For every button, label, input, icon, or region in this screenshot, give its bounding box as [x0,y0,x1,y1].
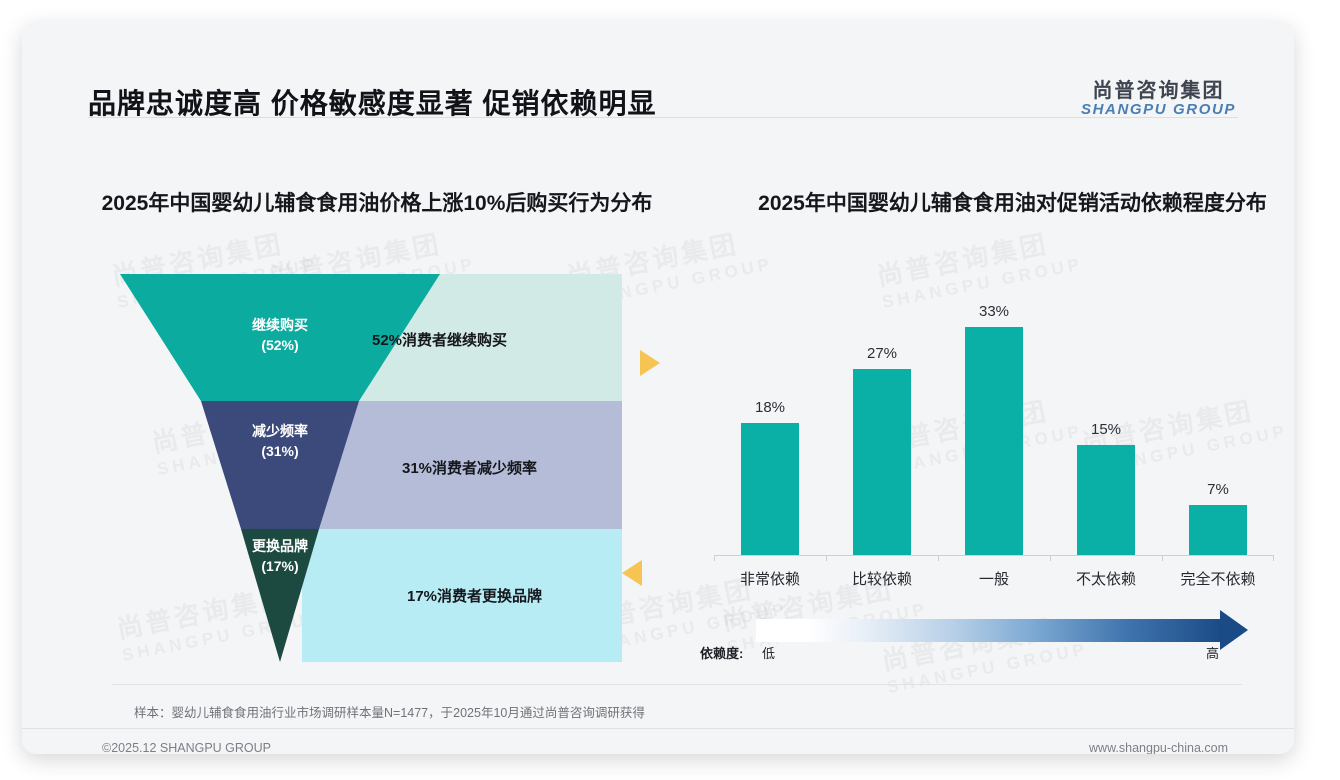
left-chart-title: 2025年中国婴幼儿辅食食用油价格上涨10%后购买行为分布 [62,190,692,219]
x-axis-label-3: 不太依赖 [1046,568,1166,589]
funnel-segment-label-0: 继续购买 (52%) [220,316,340,356]
bar-1[interactable] [853,369,911,555]
bar-2[interactable] [965,327,1023,555]
slide-header: 品牌忠诚度高 价格敏感度显著 促销依赖明显 尚普咨询集团 SHANGPU GRO… [22,22,1294,118]
brand-logo: 尚普咨询集团 SHANGPU GROUP [1081,80,1236,119]
funnel-segment-name-2: 更换品牌 [252,538,308,554]
arrow-right-icon [1220,610,1248,650]
right-chart-title: 2025年中国婴幼儿辅食食用油对促销活动依赖程度分布 [700,190,1294,219]
funnel-segment-name-0: 继续购买 [252,317,308,333]
axis-tick [826,555,827,561]
bar-value-3: 15% [1061,421,1151,438]
page-title: 品牌忠诚度高 价格敏感度显著 促销依赖明显 [88,82,657,122]
header-divider [88,117,1238,118]
bar-3[interactable] [1077,445,1135,555]
footer-website[interactable]: www.shangpu-china.com [1089,741,1228,754]
footnote-divider [112,684,1242,685]
axis-tick [1273,555,1274,561]
axis-tick [714,555,715,561]
dependency-bar-chart: 18% 27% 33% 15% 7% 非常依赖 比较依赖 一般 不太依赖 完全不… [714,284,1274,596]
legend-title: 依赖度: [700,643,743,662]
logo-chinese-text: 尚普咨询集团 [1081,80,1236,102]
bar-4 [1189,505,1247,555]
x-axis-label-2: 一般 [934,568,1054,589]
funnel-annotation-2: 17%消费者更换品牌 [407,585,542,606]
funnel-segment-name-1: 减少频率 [252,423,308,439]
triangle-left-icon [622,560,642,586]
funnel-segment-1 [201,401,359,529]
axis-tick [1162,555,1163,561]
bar-0[interactable] [741,423,799,555]
bar-value-1: 27% [837,345,927,362]
gradient-bar [756,619,1222,642]
funnel-segment-value-0: (52%) [261,337,298,353]
axis-tick [1050,555,1051,561]
axis-tick [938,555,939,561]
bar-value-2: 33% [949,303,1039,320]
footer-copyright: ©2025.12 SHANGPU GROUP [102,741,271,754]
footer-divider [22,728,1294,729]
x-axis-label-4: 完全不依赖 [1158,568,1278,589]
legend-high-label: 高 [1206,643,1219,662]
funnel-annotation-0: 52%消费者继续购买 [372,329,507,350]
legend-low-label: 低 [762,643,775,662]
dependency-gradient-legend: 依赖度: 低 高 [700,614,1280,672]
bar-value-4: 7% [1173,481,1263,498]
funnel-segment-label-1: 减少频率 (31%) [220,422,340,462]
funnel-segment-value-1: (31%) [261,443,298,459]
x-axis-label-0: 非常依赖 [710,568,830,589]
triangle-right-icon [640,350,660,376]
watermark-cn: 尚普咨询集团 [873,218,1080,293]
funnel-annotation-1: 31%消费者减少频率 [402,457,537,478]
sample-footnote: 样本：婴幼儿辅食食用油行业市场调研样本量N=1477，于2025年10月通过尚普… [134,702,645,721]
bar-value-0: 18% [725,399,815,416]
funnel-chart: 继续购买 (52%) 减少频率 (31%) 更换品牌 (17%) 52%消费者继… [112,274,632,662]
funnel-segment-value-2: (17%) [261,558,298,574]
x-axis-label-1: 比较依赖 [822,568,942,589]
x-axis-line [714,555,1274,556]
funnel-segment-label-2: 更换品牌 (17%) [220,537,340,577]
slide-card: 品牌忠诚度高 价格敏感度显著 促销依赖明显 尚普咨询集团 SHANGPU GRO… [22,22,1294,754]
